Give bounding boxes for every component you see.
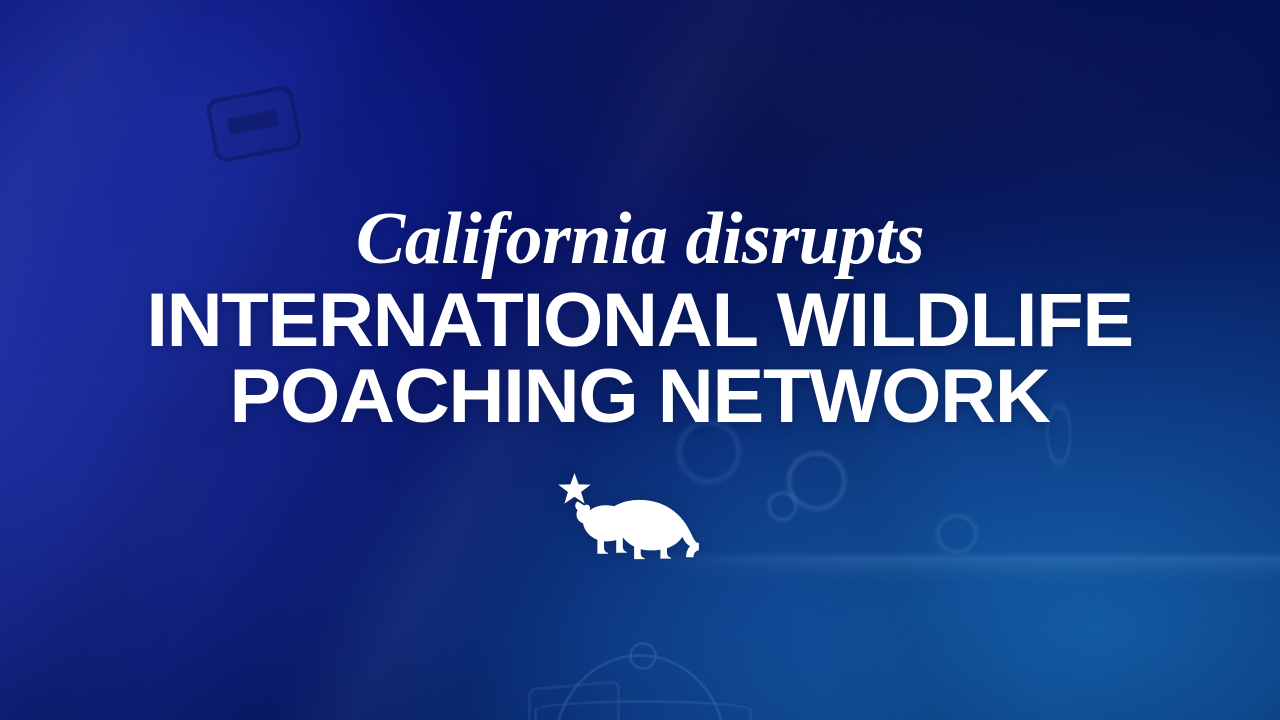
title-card: California disrupts INTERNATIONAL WILDLI… — [0, 0, 1280, 720]
california-bear-logo — [554, 469, 726, 569]
headline-line-2: POACHING NETWORK — [147, 359, 1133, 435]
star-icon — [558, 473, 590, 504]
headline-line-1: INTERNATIONAL WILDLIFE — [147, 283, 1133, 359]
bear-icon — [575, 500, 699, 559]
title-content: California disrupts INTERNATIONAL WILDLI… — [0, 0, 1280, 720]
headline: INTERNATIONAL WILDLIFE POACHING NETWORK — [147, 283, 1133, 435]
kicker-text: California disrupts — [356, 202, 924, 277]
